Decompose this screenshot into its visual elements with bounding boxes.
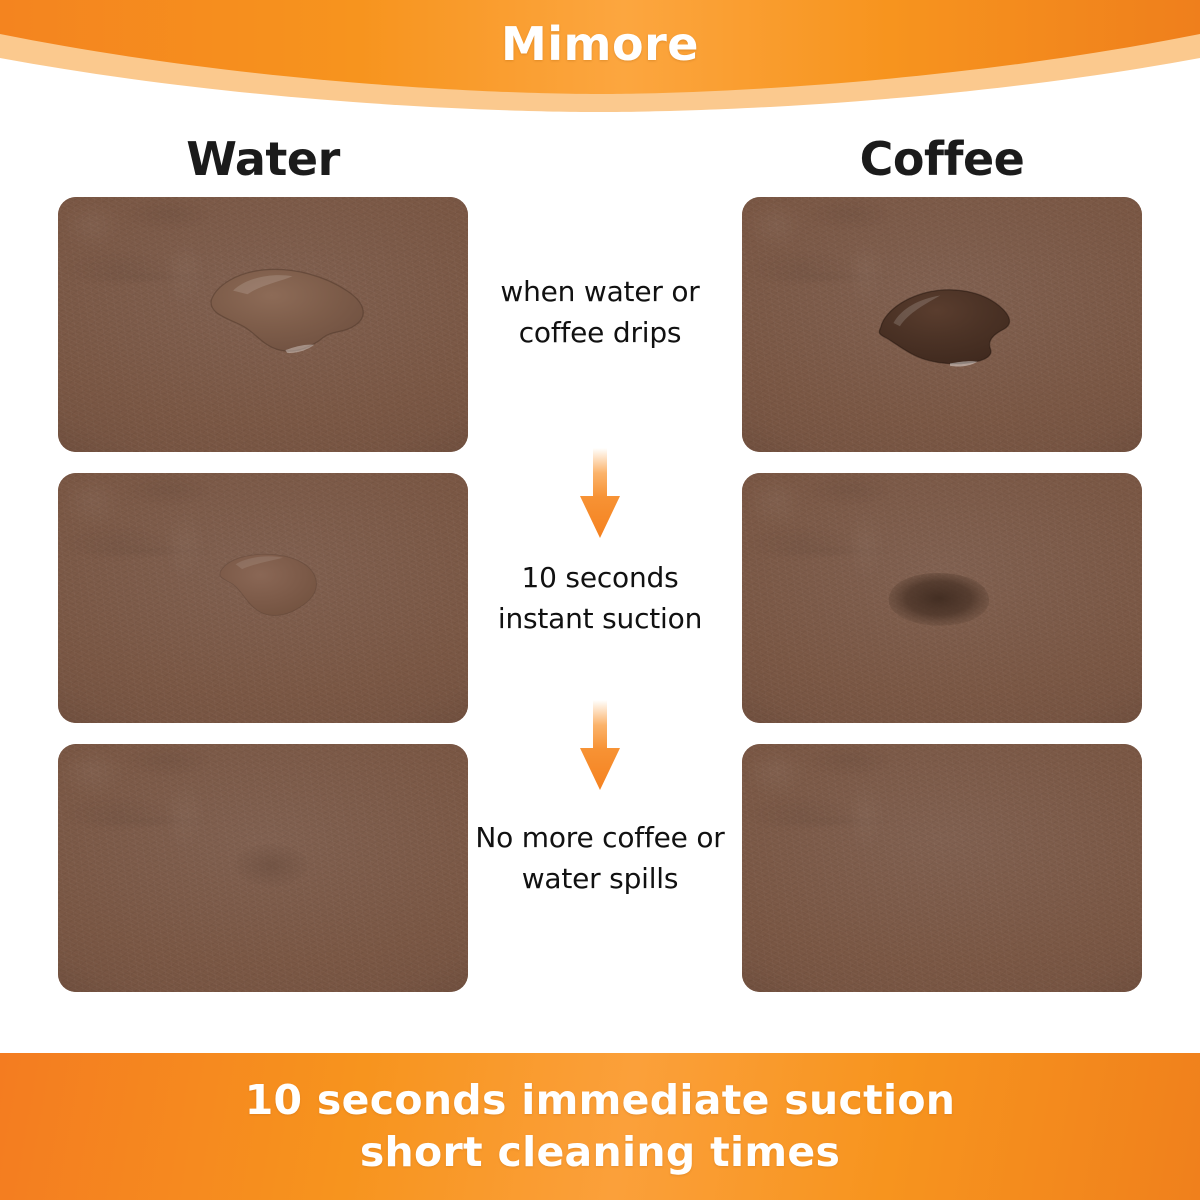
photo-water-absorbed [58, 473, 468, 723]
photo-coffee-drip [742, 197, 1142, 452]
water-puddle-small [206, 543, 337, 633]
water-puddle-large [197, 258, 377, 370]
step-caption-drips: when water or coffee drips [470, 272, 730, 353]
water-residue-trace [214, 833, 329, 897]
column-heading-coffee: Coffee [742, 132, 1142, 186]
leather-surface [742, 744, 1142, 992]
step-caption-no-spills: No more coffee or water spills [470, 818, 730, 899]
photo-coffee-absorbed [742, 473, 1142, 723]
step-caption-suction: 10 seconds instant suction [470, 558, 730, 639]
arrow-down-icon-1 [575, 448, 625, 540]
footer-line-1: 10 seconds immediate suction [245, 1077, 956, 1124]
photo-water-clean [58, 744, 468, 992]
bottom-banner: 10 seconds immediate suction short clean… [0, 1053, 1200, 1200]
coffee-puddle-large [862, 281, 1038, 378]
footer-line-2: short cleaning times [360, 1129, 840, 1176]
brand-title: Mimore [0, 0, 1200, 88]
arrow-down-icon-2 [575, 700, 625, 792]
coffee-stain-absorbed [866, 556, 1010, 641]
column-heading-water: Water [58, 132, 468, 186]
top-banner: Mimore [0, 0, 1200, 112]
photo-coffee-clean [742, 744, 1142, 992]
photo-water-drip [58, 197, 468, 452]
